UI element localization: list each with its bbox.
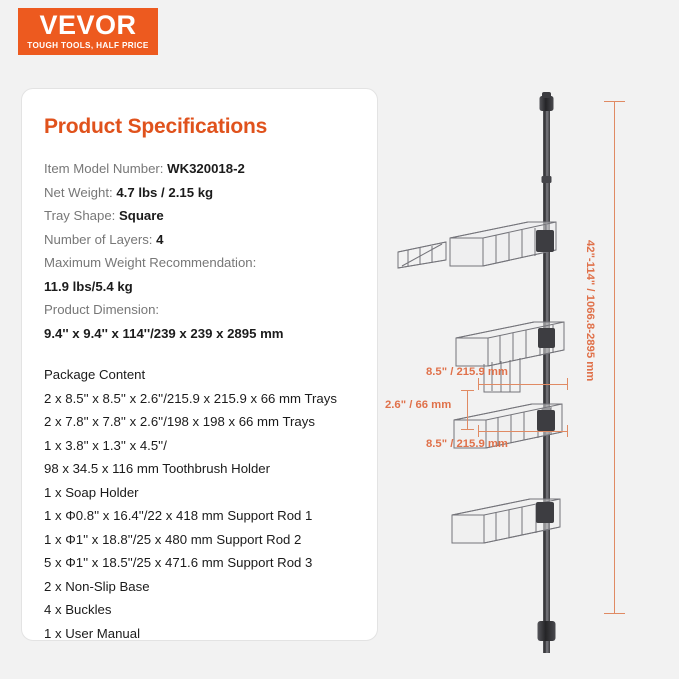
dimension-tick-tray-top xyxy=(461,390,474,391)
spec-row: Tray Shape: Square xyxy=(44,204,363,228)
spec-row: Net Weight: 4.7 lbs / 2.15 kg xyxy=(44,181,363,205)
dimension-line-bottom xyxy=(478,431,568,432)
dimension-tick-top-right xyxy=(567,378,568,390)
package-item: 2 x Non-Slip Base xyxy=(44,575,363,599)
dimension-tick-bottom-left xyxy=(478,425,479,437)
section-gap xyxy=(44,345,363,363)
package-content-list: 2 x 8.5'' x 8.5'' x 2.6''/215.9 x 215.9 … xyxy=(44,387,363,646)
logo-tagline: TOUGH TOOLS, HALF PRICE xyxy=(27,40,148,51)
dimension-tick-top-left xyxy=(478,378,479,390)
dimension-line-tray-height xyxy=(467,390,468,430)
package-item: 2 x 8.5'' x 8.5'' x 2.6''/215.9 x 215.9 … xyxy=(44,387,363,411)
logo-wordmark: VEVOR xyxy=(39,12,136,39)
spec-value: 4 xyxy=(156,232,163,247)
package-item: 5 x Φ1'' x 18.5''/25 x 471.6 mm Support … xyxy=(44,551,363,575)
dimension-tick-total-bottom xyxy=(604,613,625,614)
spec-row: Item Model Number: WK320018-2 xyxy=(44,157,363,181)
dimension-tick-bottom-right xyxy=(567,425,568,437)
spec-value: Square xyxy=(119,208,164,223)
package-item: 1 x 3.8'' x 1.3'' x 4.5''/ xyxy=(44,434,363,458)
package-item: 1 x Φ1'' x 18.8''/25 x 480 mm Support Ro… xyxy=(44,528,363,552)
page-root: VEVOR TOUGH TOOLS, HALF PRICE Product Sp… xyxy=(0,0,679,679)
spec-value: 4.7 lbs / 2.15 kg xyxy=(116,185,213,200)
spec-label: Product Dimension: xyxy=(44,298,363,322)
package-item: 4 x Buckles xyxy=(44,598,363,622)
spec-label: Maximum Weight Recommendation: xyxy=(44,251,363,275)
dimension-tick-total-top xyxy=(604,101,625,102)
dimension-label-bottom-width: 8.5" / 215.9 mm xyxy=(426,438,508,451)
spec-value: 9.4'' x 9.4'' x 114''/239 x 239 x 2895 m… xyxy=(44,322,363,346)
dimension-label-top-width: 8.5" / 215.9 mm xyxy=(426,366,508,379)
spec-value: WK320018-2 xyxy=(167,161,245,176)
page-title: Product Specifications xyxy=(44,115,363,139)
package-item: 1 x User Manual xyxy=(44,622,363,646)
package-item: 1 x Soap Holder xyxy=(44,481,363,505)
dimension-line-total-height xyxy=(614,101,615,614)
spec-value: 11.9 lbs/5.4 kg xyxy=(44,275,363,299)
dimension-line-top xyxy=(478,384,568,385)
package-content-heading: Package Content xyxy=(44,363,363,387)
vevor-logo: VEVOR TOUGH TOOLS, HALF PRICE xyxy=(18,8,158,55)
dimension-label-tray-height: 2.6" / 66 mm xyxy=(385,399,451,412)
dimension-label-total-height: 42"-114" / 1066.8-2895 mm xyxy=(583,240,596,381)
package-item: 98 x 34.5 x 116 mm Toothbrush Holder xyxy=(44,457,363,481)
package-item: 1 x Φ0.8'' x 16.4''/22 x 418 mm Support … xyxy=(44,504,363,528)
spec-row: Number of Layers: 4 xyxy=(44,228,363,252)
dimension-tick-tray-bottom xyxy=(461,429,474,430)
spec-list: Item Model Number: WK320018-2Net Weight:… xyxy=(44,157,363,345)
specifications-card: Product Specifications Item Model Number… xyxy=(21,88,378,641)
package-item: 2 x 7.8'' x 7.8'' x 2.6''/198 x 198 x 66… xyxy=(44,410,363,434)
